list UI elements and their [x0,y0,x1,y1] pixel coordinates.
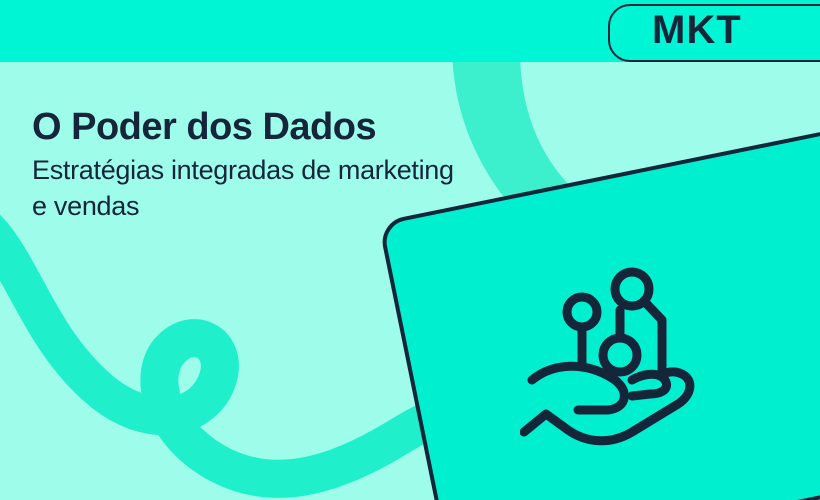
mkt-badge-label: MKT [652,6,742,54]
page-title: O Poder dos Dados [32,104,552,150]
page-subtitle: Estratégias integradas de marketing e ve… [32,152,472,224]
headline-block: O Poder dos Dados Estratégias integradas… [32,104,552,224]
webinar-banner: WEBINAR MKT O Poder dos Dados Estratégia… [0,0,820,500]
hand-holding-data-nodes-icon [520,262,720,452]
